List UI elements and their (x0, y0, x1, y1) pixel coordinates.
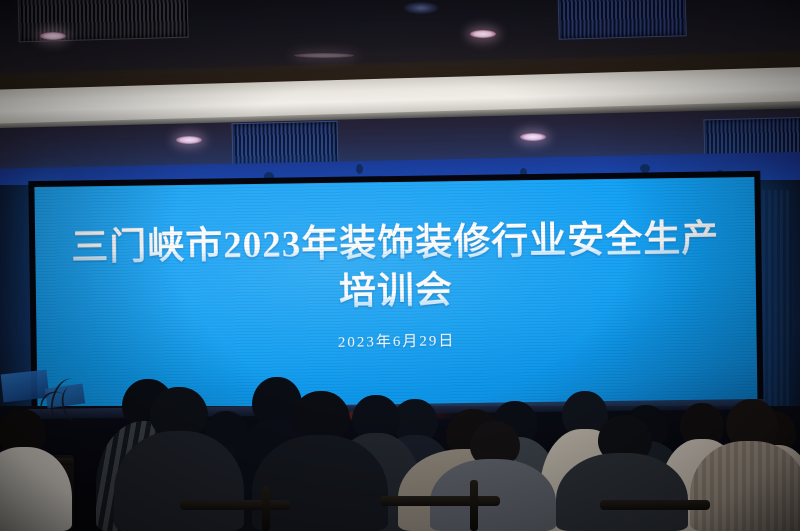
downlight-icon (520, 133, 546, 141)
person-body (114, 431, 244, 531)
downlight-icon (40, 32, 66, 40)
downlight-icon (470, 30, 496, 38)
downlight-icon (176, 136, 202, 144)
chair-back-rail (600, 500, 710, 510)
slide-title-line2: 培训会 (339, 269, 454, 314)
slide-date: 2023年6月29日 (338, 329, 456, 352)
audience-member (114, 391, 244, 531)
person-body (252, 435, 388, 531)
chair-back-rail (180, 500, 290, 510)
slide-title-line1: 三门峡市2023年装饰装修行业安全生产 (71, 217, 720, 270)
chair-post (262, 486, 270, 531)
downlight-strip-icon (294, 53, 354, 58)
person-body (690, 441, 800, 531)
ceiling-sensor-icon (356, 164, 363, 174)
person-body (556, 453, 688, 531)
chair-post (470, 480, 478, 531)
conference-room-photo: 三门峡市2023年装饰装修行业安全生产 培训会 2023年6月29日 (0, 0, 800, 531)
audience-member (690, 403, 800, 531)
audience-member (556, 419, 688, 531)
hvac-vent-icon (557, 0, 687, 40)
person-body (430, 459, 556, 531)
audience-member (252, 397, 388, 531)
chair-back-rail (380, 496, 500, 506)
audience-member (430, 425, 556, 531)
downlight-icon (404, 2, 438, 14)
audience-member (0, 413, 72, 531)
person-body (0, 447, 72, 531)
